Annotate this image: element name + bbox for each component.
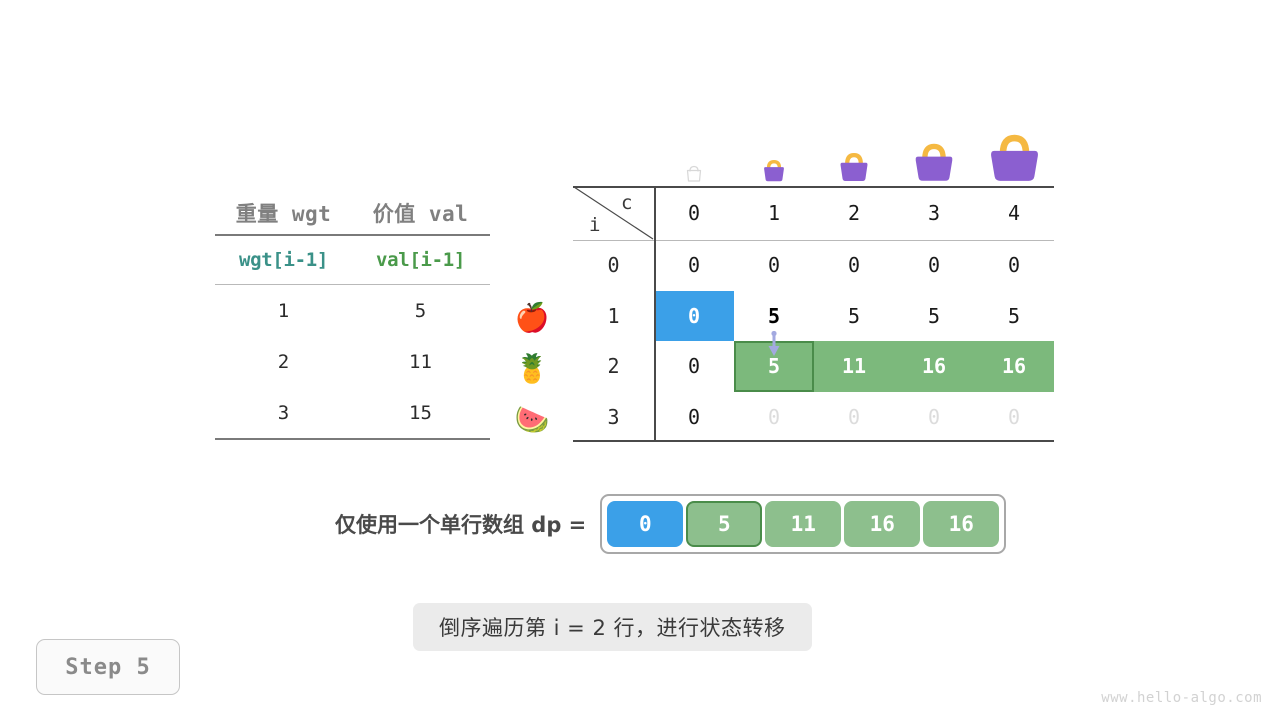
bag-icon-size-2 xyxy=(814,120,894,186)
wv-cell-val-3: 15 xyxy=(352,402,489,424)
dp-row-label-2: 2 xyxy=(573,354,654,378)
wv-cell-wgt-3: 3 xyxy=(215,402,352,424)
wv-cell-val-2: 11 xyxy=(352,351,489,373)
dp-array-cell-1: 5 xyxy=(686,501,762,547)
dp-cell-0-3: 0 xyxy=(894,253,974,277)
dp-cell-1-2: 5 xyxy=(814,304,894,328)
wv-row-2: 2 11 xyxy=(215,336,490,387)
dp-grid: i c 0 1 2 3 4 0 0 0 0 0 0 1 0 5 5 5 5 xyxy=(573,186,1054,442)
state-transition-arrow-icon xyxy=(765,331,783,357)
dp-array-cell-2: 11 xyxy=(765,501,841,547)
dp-cell-2-2: 11 xyxy=(814,354,894,378)
bag-icon-size-4 xyxy=(974,120,1054,186)
dp-cell-2-0: 0 xyxy=(654,354,734,378)
wv-cell-val-1: 5 xyxy=(352,300,489,322)
dp-cell-3-0: 0 xyxy=(654,405,734,429)
wv-subheader-row: wgt[i-1] val[i-1] xyxy=(215,236,490,284)
dp-table: i c 0 1 2 3 4 0 0 0 0 0 0 1 0 5 5 5 5 xyxy=(573,186,1054,442)
wv-row-3: 3 15 xyxy=(215,387,490,438)
wv-header-weight: 重量 wgt xyxy=(215,198,352,228)
dp-array-section: 仅使用一个单行数组 dp = 0 5 11 16 16 xyxy=(335,494,1006,554)
dp-row-3: 3 0 0 0 0 0 xyxy=(573,392,1054,443)
dp-cell-3-1: 0 xyxy=(734,405,814,429)
dp-capacity-2: 2 xyxy=(814,201,894,225)
dp-cell-1-1: 5 xyxy=(734,304,814,328)
wv-row-1: 1 5 xyxy=(215,285,490,336)
corner-label-i: i xyxy=(589,214,600,236)
dp-cell-1-0: 0 xyxy=(654,304,734,328)
corner-label-c: c xyxy=(621,192,632,214)
dp-cell-0-0: 0 xyxy=(654,253,734,277)
dp-cell-2-3: 16 xyxy=(894,354,974,378)
dp-row-0: 0 0 0 0 0 0 xyxy=(573,240,1054,291)
dp-cell-1-3: 5 xyxy=(894,304,974,328)
wv-cell-wgt-2: 2 xyxy=(215,351,352,373)
dp-cell-3-4: 0 xyxy=(974,405,1054,429)
dp-cell-1-4: 5 xyxy=(974,304,1054,328)
dp-row-label-3: 3 xyxy=(573,405,654,429)
dp-array-container: 0 5 11 16 16 xyxy=(600,494,1006,554)
dp-array-cell-3: 16 xyxy=(844,501,920,547)
dp-rule-header xyxy=(573,240,1054,241)
dp-capacity-1: 1 xyxy=(734,201,814,225)
dp-cell-3-2: 0 xyxy=(814,405,894,429)
dp-cell-2-1: 5 xyxy=(734,354,814,378)
weight-value-table: 重量 wgt 价值 val wgt[i-1] val[i-1] 1 5 2 11… xyxy=(215,192,490,440)
bag-icon-size-0 xyxy=(654,120,734,186)
wv-header-row: 重量 wgt 价值 val xyxy=(215,192,490,234)
pineapple-icon: 🍍 xyxy=(505,343,559,394)
dp-array-label: 仅使用一个单行数组 dp = xyxy=(335,509,586,539)
wv-subheader-val: val[i-1] xyxy=(352,249,489,271)
dp-cell-0-2: 0 xyxy=(814,253,894,277)
dp-row-label-1: 1 xyxy=(573,304,654,328)
fruit-icon-column: 🍎 🍍 🍉 xyxy=(505,292,559,445)
apple-icon: 🍎 xyxy=(505,292,559,343)
dp-capacity-3: 3 xyxy=(894,201,974,225)
dp-row-label-0: 0 xyxy=(573,253,654,277)
dp-rule-bottom xyxy=(573,440,1054,442)
dp-cell-0-4: 0 xyxy=(974,253,1054,277)
dp-capacity-4: 4 xyxy=(974,201,1054,225)
dp-cell-3-3: 0 xyxy=(894,405,974,429)
corner-diagonal-icon xyxy=(573,186,654,240)
bag-icon-size-1 xyxy=(734,120,814,186)
bag-icon-size-3 xyxy=(894,120,974,186)
bag-capacity-icons xyxy=(654,120,1054,186)
dp-array-cell-0: 0 xyxy=(607,501,683,547)
wv-cell-wgt-1: 1 xyxy=(215,300,352,322)
dp-cell-2-4: 16 xyxy=(974,354,1054,378)
wv-header-value: 价值 val xyxy=(352,198,489,228)
dp-row-1: 1 0 5 5 5 5 xyxy=(573,291,1054,342)
wv-subheader-wgt: wgt[i-1] xyxy=(215,249,352,271)
step-badge: Step 5 xyxy=(36,639,180,695)
step-caption: 倒序遍历第 i = 2 行，进行状态转移 xyxy=(413,603,812,651)
wv-rule-bottom xyxy=(215,438,490,440)
dp-cell-0-1: 0 xyxy=(734,253,814,277)
watermelon-icon: 🍉 xyxy=(505,394,559,445)
dp-rule-vertical xyxy=(654,186,656,442)
dp-array-cell-4: 16 xyxy=(923,501,999,547)
watermark: www.hello-algo.com xyxy=(1101,690,1262,706)
dp-capacity-0: 0 xyxy=(654,201,734,225)
